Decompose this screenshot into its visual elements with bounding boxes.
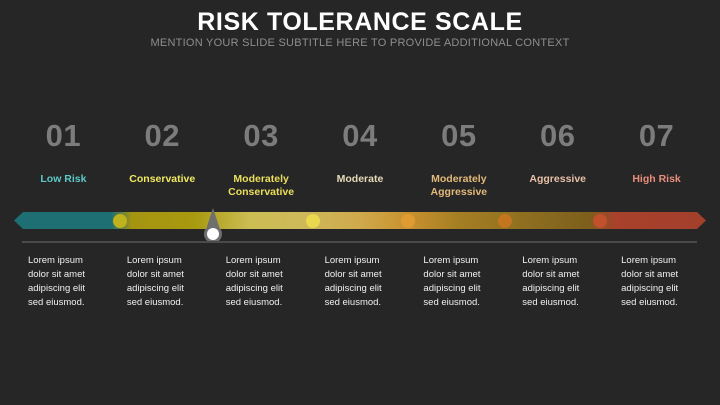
risk-step-07[interactable]: 07High RiskLorem ipsum dolor sit amet ad… — [607, 0, 706, 405]
steps-container: 01Low RiskLorem ipsum dolor sit amet adi… — [14, 0, 706, 405]
step-body-text: Lorem ipsum dolor sit amet adipiscing el… — [607, 254, 706, 310]
step-body-text: Lorem ipsum dolor sit amet adipiscing el… — [14, 254, 113, 310]
step-body-text: Lorem ipsum dolor sit amet adipiscing el… — [113, 254, 212, 310]
risk-step-03[interactable]: 03Moderately ConservativeLorem ipsum dol… — [212, 0, 311, 405]
step-body-text: Lorem ipsum dolor sit amet adipiscing el… — [508, 254, 607, 310]
step-number: 06 — [508, 118, 607, 154]
step-label: Moderately Aggressive — [409, 173, 508, 199]
step-number: 07 — [607, 118, 706, 154]
slide-canvas: RISK TOLERANCE SCALE MENTION YOUR SLIDE … — [0, 0, 720, 405]
step-number: 02 — [113, 118, 212, 154]
step-label: Conservative — [113, 173, 212, 186]
step-number: 03 — [212, 118, 311, 154]
risk-step-02[interactable]: 02ConservativeLorem ipsum dolor sit amet… — [113, 0, 212, 405]
risk-step-05[interactable]: 05Moderately AggressiveLorem ipsum dolor… — [409, 0, 508, 405]
step-number: 01 — [14, 118, 113, 154]
risk-step-01[interactable]: 01Low RiskLorem ipsum dolor sit amet adi… — [14, 0, 113, 405]
step-label: Moderate — [311, 173, 410, 186]
step-label: Moderately Conservative — [212, 173, 311, 199]
step-label: Low Risk — [14, 173, 113, 186]
step-label: Aggressive — [508, 173, 607, 186]
step-body-text: Lorem ipsum dolor sit amet adipiscing el… — [409, 254, 508, 310]
step-body-text: Lorem ipsum dolor sit amet adipiscing el… — [311, 254, 410, 310]
risk-step-06[interactable]: 06AggressiveLorem ipsum dolor sit amet a… — [508, 0, 607, 405]
risk-step-04[interactable]: 04ModerateLorem ipsum dolor sit amet adi… — [311, 0, 410, 405]
step-label: High Risk — [607, 173, 706, 186]
step-number: 04 — [311, 118, 410, 154]
step-body-text: Lorem ipsum dolor sit amet adipiscing el… — [212, 254, 311, 310]
step-number: 05 — [409, 118, 508, 154]
